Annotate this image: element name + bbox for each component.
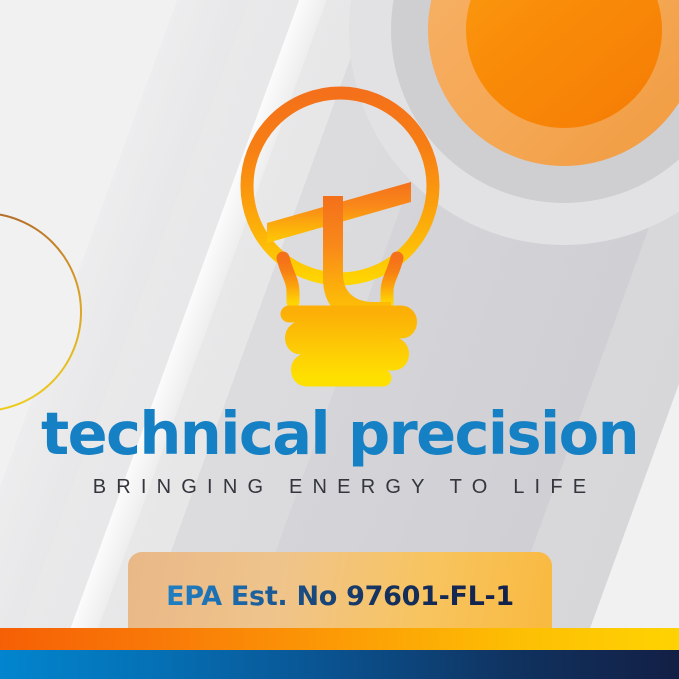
epa-establishment-number: EPA Est. No 97601-FL-1 xyxy=(166,581,514,612)
brand-tagline: BRINGING ENERGY TO LIFE xyxy=(0,476,679,499)
footer-bar-blue xyxy=(0,650,679,679)
brand-wordmark: technical precision xyxy=(0,404,679,464)
epa-registration-badge: EPA Est. No 97601-FL-1 xyxy=(128,552,552,638)
brand-card: technical precision BRINGING ENERGY TO L… xyxy=(0,0,679,679)
footer-bar-orange xyxy=(0,628,679,650)
brand-lockup: technical precision BRINGING ENERGY TO L… xyxy=(0,404,679,499)
lightbulb-t-monogram-icon xyxy=(215,78,465,398)
